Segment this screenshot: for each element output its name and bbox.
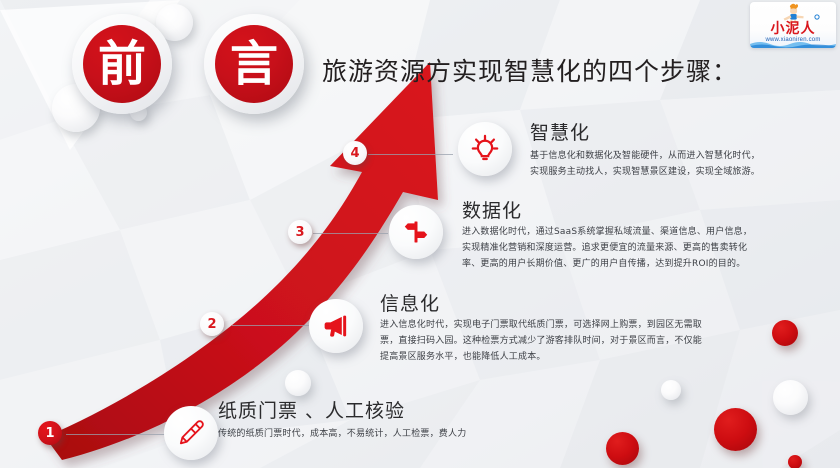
seal-qian-char: 前 [98, 40, 146, 88]
connector-line-4 [368, 154, 453, 155]
seal-yan-inner: 言 [215, 25, 293, 103]
step-heading-4: 智慧化 [530, 118, 590, 145]
signpost-icon-disc[interactable] [389, 205, 443, 259]
lightbulb-icon [470, 134, 500, 164]
step-body-4: 基于信息化和数据化及智能硬件，从而进入智慧化时代， 实现服务主动找人，实现智慧景… [530, 148, 760, 180]
brand-logo[interactable]: 小泥人 www.xiaoniren.com [750, 2, 836, 48]
slide-canvas: 前 言 旅游资源方实现智慧化的四个步骤： 4 智慧化 基于信息化和数据化及智能硬… [0, 0, 840, 468]
step-heading-1: 纸质门票 、人工核验 [218, 396, 405, 423]
page-title: 旅游资源方实现智慧化的四个步骤： [322, 52, 738, 88]
signpost-icon [402, 218, 430, 246]
step-body-3-line-3: 率、更高的用户长期价值、更广的用户自传播，达到提升ROI的目的。 [462, 256, 752, 272]
connector-line-1 [66, 434, 166, 435]
seal-qian-inner: 前 [83, 25, 161, 103]
megaphone-icon [322, 312, 350, 340]
seal-qian: 前 [72, 14, 172, 114]
step-body-2-line-3: 提高景区服务水平，也能降低人工成本。 [380, 349, 702, 365]
connector-line-2 [232, 325, 310, 326]
seal-yan: 言 [204, 14, 304, 114]
step-body-1: 传统的纸质门票时代，成本高，不易统计，人工检票，费人力 [218, 426, 466, 442]
step-badge-2-label: 2 [207, 318, 216, 331]
pencil-icon-disc[interactable] [164, 406, 218, 460]
step-body-2: 进入信息化时代，实现电子门票取代纸质门票，可选择网上购票，到园区无需取 票，直接… [380, 317, 702, 365]
step-body-2-line-2: 票，直接扫码入园。这种检票方式减少了游客排队时间，对于景区而言，不仅能 [380, 333, 702, 349]
step-badge-4[interactable]: 4 [343, 141, 367, 165]
pencil-icon [177, 419, 205, 447]
step-badge-2[interactable]: 2 [200, 312, 224, 336]
step-body-4-line-2: 实现服务主动找人，实现智慧景区建设，实现全域旅游。 [530, 164, 760, 180]
step-heading-2: 信息化 [380, 289, 440, 316]
logo-wave-icon [750, 38, 836, 48]
step-body-3: 进入数据化时代，通过SaaS系统掌握私域流量、渠道信息、用户信息， 实现精准化营… [462, 224, 752, 272]
logo-brand-label: 小泥人 [750, 22, 836, 36]
step-body-2-line-1: 进入信息化时代，实现电子门票取代纸质门票，可选择网上购票，到园区无需取 [380, 317, 702, 333]
step-badge-3[interactable]: 3 [288, 220, 312, 244]
step-badge-1-label: 1 [45, 427, 54, 440]
megaphone-icon-disc[interactable] [309, 299, 363, 353]
step-badge-1[interactable]: 1 [38, 421, 62, 445]
seal-yan-char: 言 [230, 40, 278, 88]
lightbulb-icon-disc[interactable] [458, 122, 512, 176]
step-body-3-line-1: 进入数据化时代，通过SaaS系统掌握私域流量、渠道信息、用户信息， [462, 224, 752, 240]
step-body-4-line-1: 基于信息化和数据化及智能硬件，从而进入智慧化时代， [530, 148, 760, 164]
connector-line-3 [313, 233, 388, 234]
step-heading-3: 数据化 [462, 196, 522, 223]
step-badge-4-label: 4 [350, 147, 359, 160]
step-body-3-line-2: 实现精准化营销和深度运营。追求更便宜的流量来源、更高的售卖转化 [462, 240, 752, 256]
step-badge-3-label: 3 [295, 226, 304, 239]
step-body-1-line-1: 传统的纸质门票时代，成本高，不易统计，人工检票，费人力 [218, 426, 466, 442]
